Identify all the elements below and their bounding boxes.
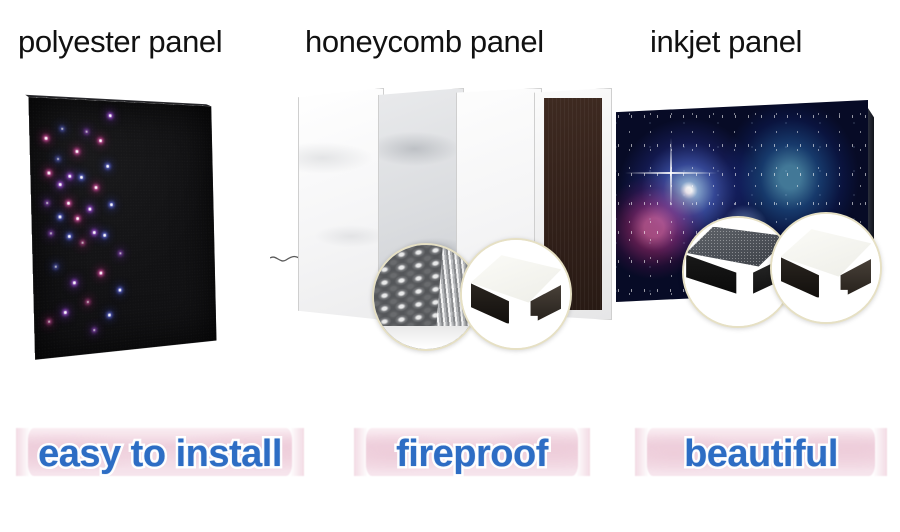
star-dot xyxy=(50,232,52,234)
star-dot xyxy=(45,137,48,140)
product-column-polyester xyxy=(0,80,300,380)
star-dot xyxy=(48,321,50,323)
feature-label-text: beautiful xyxy=(632,418,890,490)
star-dot xyxy=(86,131,88,133)
product-column-honeycomb xyxy=(290,80,590,380)
feature-label-value: easy to install xyxy=(38,433,282,476)
slab-face-white-marble xyxy=(298,88,384,320)
honeycomb-panel-image xyxy=(290,88,590,378)
star-dot xyxy=(61,128,63,130)
feature-label-text: fireproof xyxy=(352,418,592,490)
panel-star-face xyxy=(28,97,216,360)
star-dot xyxy=(59,183,62,186)
star-dot xyxy=(87,301,89,303)
star-dot xyxy=(119,288,122,291)
star-dot xyxy=(99,271,102,274)
feature-label-text: easy to install xyxy=(10,418,310,490)
star-dot xyxy=(88,208,91,211)
corner-notched-base xyxy=(471,313,562,337)
product-column-inkjet xyxy=(600,80,900,380)
star-dot xyxy=(68,175,71,178)
feature-label-value: fireproof xyxy=(396,433,548,476)
star-dot xyxy=(106,165,109,168)
star-dot xyxy=(76,217,79,220)
star-dot xyxy=(108,313,111,316)
feature-easy-to-install: easy to install xyxy=(10,418,310,490)
star-dot xyxy=(119,252,121,254)
heading-inkjet-panel: inkjet panel xyxy=(650,26,802,57)
white-edge-callout xyxy=(770,212,882,324)
star-dot xyxy=(55,266,57,268)
corner-notched-base xyxy=(781,287,872,311)
star-dot xyxy=(57,158,59,160)
star-dot xyxy=(82,242,84,244)
star-dot xyxy=(68,235,71,238)
star-dot xyxy=(93,231,96,234)
feature-beautiful: beautiful xyxy=(632,418,890,490)
feature-label-value: beautiful xyxy=(684,433,838,476)
product-comparison-page: polyester panel honeycomb panel inkjet p… xyxy=(0,0,900,532)
star-dot xyxy=(93,329,95,331)
panel-corner-illustration xyxy=(462,240,570,348)
star-dot xyxy=(46,202,48,204)
white-corner-illustration xyxy=(772,214,880,322)
star-dot xyxy=(109,114,112,117)
star-dot xyxy=(99,139,102,142)
star-dot xyxy=(58,215,61,218)
star-dot xyxy=(73,281,76,284)
feature-fireproof: fireproof xyxy=(352,418,592,490)
star-flare-horizontal xyxy=(625,172,717,174)
slab-top-cap xyxy=(298,79,384,89)
star-panel-body xyxy=(28,97,216,360)
polyester-panel-image xyxy=(20,88,270,368)
slab-top-cap xyxy=(456,79,542,89)
star-dot xyxy=(95,186,98,189)
star-dot xyxy=(67,202,70,205)
star-dot xyxy=(103,234,106,237)
heading-polyester-panel: polyester panel xyxy=(18,26,222,57)
slab-top-cap xyxy=(378,79,464,89)
heading-honeycomb-panel: honeycomb panel xyxy=(305,26,544,57)
inkjet-panel-image xyxy=(610,94,900,364)
star-dot xyxy=(80,176,83,179)
panel-edge-callout xyxy=(460,238,572,350)
panel-slab-white-marble xyxy=(298,88,384,320)
star-dot xyxy=(47,171,50,174)
star-dot xyxy=(64,311,67,314)
star-dot xyxy=(75,150,78,153)
star-dot xyxy=(110,203,113,206)
